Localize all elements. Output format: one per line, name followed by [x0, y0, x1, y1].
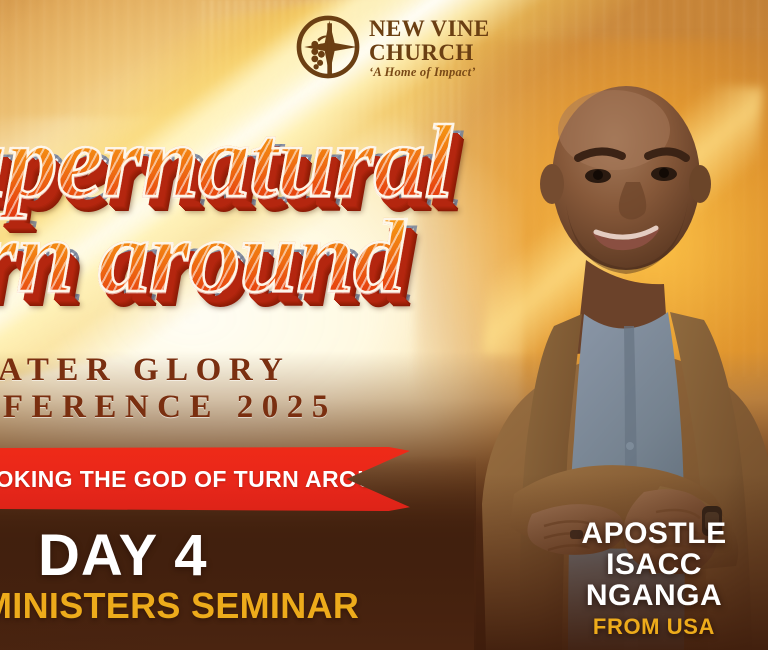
speaker-title: APOSTLE — [554, 519, 754, 550]
day-label: DAY 4 — [38, 527, 207, 585]
event-title: Supernatural Supernatural turn around tu… — [0, 112, 592, 308]
logo-line-1: NEW VINE — [369, 17, 490, 40]
conference-line-2: CONFERENCE 2025 — [0, 389, 337, 426]
church-logo: NEW VINE CHURCH ‘A Home of Impact’ — [295, 14, 490, 80]
day-subtitle: MINISTERS SEMINAR — [0, 588, 359, 624]
title-line-1: Supernatural Supernatural — [0, 112, 592, 213]
conference-subtitle: GREATER GLORY CONFERENCE 2025 — [0, 352, 337, 426]
event-flyer: NEW VINE CHURCH ‘A Home of Impact’ Super… — [0, 0, 768, 650]
speaker-last-name: NGANGA — [554, 581, 754, 612]
speaker-origin: FROM USA — [554, 615, 754, 638]
vine-cross-emblem-icon — [295, 14, 361, 80]
speaker-first-name: ISACC — [554, 550, 754, 581]
title-line-2-face: turn around — [0, 199, 404, 314]
logo-tagline: ‘A Home of Impact’ — [369, 66, 490, 79]
church-logo-text: NEW VINE CHURCH ‘A Home of Impact’ — [369, 15, 490, 79]
conference-line-1: GREATER GLORY — [0, 352, 337, 389]
logo-line-2: CHURCH — [369, 41, 490, 64]
speaker-name-block: APOSTLE ISACC NGANGA FROM USA — [554, 519, 754, 638]
title-line-2: turn around turn around — [0, 207, 592, 308]
